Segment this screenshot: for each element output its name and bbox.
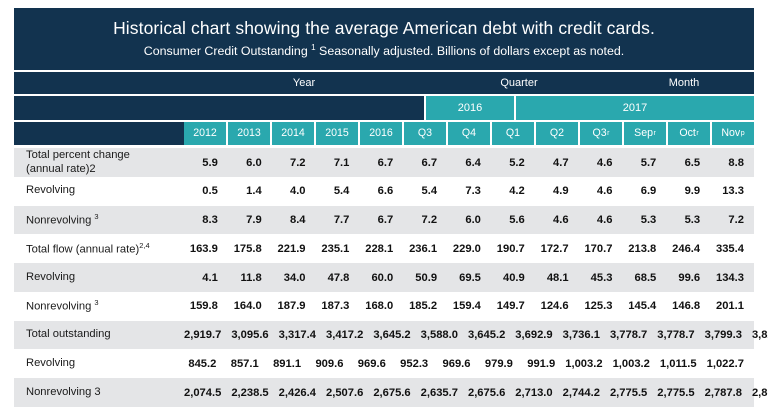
- table-cell: 45.3: [579, 272, 623, 284]
- table-cell: 4.2: [491, 185, 535, 197]
- header-column-2013[interactable]: 2013: [228, 122, 270, 145]
- header-column-q1[interactable]: Q1: [492, 122, 534, 145]
- header-column-label: Nov: [721, 128, 740, 139]
- subtitle-text-before: Consumer Credit Outstanding: [144, 44, 311, 58]
- table-cell: 1,003.2: [613, 358, 660, 370]
- table-row: Total percent change(annual rate)25.96.0…: [14, 148, 754, 177]
- table-cell: 6.9: [622, 185, 666, 197]
- table-cell: 159.4: [447, 300, 491, 312]
- table-cell: 2,804.5: [752, 387, 768, 399]
- table-cell: 221.9: [272, 243, 316, 255]
- header-column-q4[interactable]: Q4: [448, 122, 490, 145]
- table-cell: 2,919.7: [184, 329, 231, 341]
- table-cell: 845.2: [184, 358, 226, 370]
- table-cell: 979.9: [481, 358, 523, 370]
- table-cell: 891.1: [269, 358, 311, 370]
- table-cell: 7.2: [710, 214, 754, 226]
- table-cell: 5.3: [622, 214, 666, 226]
- table-cell: 172.7: [535, 243, 579, 255]
- table-cell: 187.3: [316, 300, 360, 312]
- table-cell: 168.0: [359, 300, 403, 312]
- table-cell: 6.7: [359, 214, 403, 226]
- table-cell: 5.2: [491, 157, 535, 169]
- table-cell: 4.6: [579, 214, 623, 226]
- table-cell: 5.4: [316, 185, 360, 197]
- table-cell: 2,507.6: [326, 387, 373, 399]
- row-label: Total outstanding: [14, 328, 184, 342]
- header-column-2014[interactable]: 2014: [272, 122, 314, 145]
- table-cell: 175.8: [228, 243, 272, 255]
- table-cell: 213.8: [622, 243, 666, 255]
- table-cell: 3,736.1: [563, 329, 610, 341]
- table-cell: 7.7: [316, 214, 360, 226]
- table-cell: 149.7: [491, 300, 535, 312]
- table-cell: 3,588.0: [421, 329, 468, 341]
- table-cell: 952.3: [396, 358, 438, 370]
- header-yearband-2016: 2016: [426, 96, 514, 120]
- table-cell: 159.8: [184, 300, 228, 312]
- table-cell: 4.9: [535, 185, 579, 197]
- header-column-2016[interactable]: 2016: [360, 122, 402, 145]
- table-cell: 2,775.5: [657, 387, 704, 399]
- table-cell: 3,692.9: [515, 329, 562, 341]
- table-cell: 6.0: [228, 157, 272, 169]
- row-label: Revolving: [14, 271, 184, 285]
- table-cell: 146.8: [666, 300, 710, 312]
- header-column-sep-r[interactable]: Sepr: [624, 122, 666, 145]
- header-column-2015[interactable]: 2015: [316, 122, 358, 145]
- credit-table-page: Historical chart showing the average Ame…: [0, 0, 768, 417]
- table-cell: 4.6: [535, 214, 579, 226]
- page-subtitle: Consumer Credit Outstanding 1 Seasonally…: [24, 43, 744, 59]
- table-cell: 163.9: [184, 243, 228, 255]
- table-cell: 8.8: [710, 157, 754, 169]
- table-cell: 909.6: [311, 358, 353, 370]
- header-column-marker: p: [741, 130, 745, 137]
- table-cell: 164.0: [228, 300, 272, 312]
- row-label: Total percent change(annual rate)2: [14, 149, 184, 176]
- table-row: Nonrevolving 32,074.52,238.52,426.42,507…: [14, 378, 754, 407]
- row-label: Revolving: [14, 184, 184, 198]
- header-column-label: Q3: [593, 128, 607, 139]
- header-group-year: Year: [184, 72, 424, 94]
- table-row: Revolving0.51.44.05.46.65.47.34.24.94.66…: [14, 177, 754, 206]
- table-cell: 2,744.2: [563, 387, 610, 399]
- header-row-year-bands: 2016 2017: [14, 96, 754, 120]
- table-cell: 13.3: [710, 185, 754, 197]
- table-cell: 99.6: [666, 272, 710, 284]
- table-cell: 4.0: [272, 185, 316, 197]
- header-column-marker: r: [696, 130, 698, 137]
- row-label: Nonrevolving 3: [14, 386, 184, 400]
- table-cell: 2,713.0: [515, 387, 562, 399]
- row-label: Nonrevolving 3: [14, 298, 184, 314]
- table-row: Revolving4.111.834.047.860.050.969.540.9…: [14, 263, 754, 292]
- table-cell: 6.6: [359, 185, 403, 197]
- row-label: Nonrevolving 3: [14, 212, 184, 228]
- table-cell: 5.7: [622, 157, 666, 169]
- header-column-label: Oct: [679, 128, 695, 139]
- header-column-label: Q4: [462, 128, 476, 139]
- header-column-label: 2013: [237, 128, 261, 139]
- table-cell: 3,317.4: [279, 329, 326, 341]
- table-cell: 2,635.7: [421, 387, 468, 399]
- table-cell: 235.1: [316, 243, 360, 255]
- table-cell: 6.5: [666, 157, 710, 169]
- table-cell: 8.3: [184, 214, 228, 226]
- table-cell: 4.1: [184, 272, 228, 284]
- table-row: Total outstanding2,919.73,095.63,317.43,…: [14, 321, 754, 350]
- header-column-label: Q2: [550, 128, 564, 139]
- table-cell: 6.0: [447, 214, 491, 226]
- table-cell: 7.2: [272, 157, 316, 169]
- table-cell: 145.4: [622, 300, 666, 312]
- header-row-columns: 20122013201420152016Q3Q4Q1Q2Q3rSeprOctrN…: [14, 122, 754, 145]
- table-cell: 40.9: [491, 272, 535, 284]
- table-cell: 201.1: [710, 300, 754, 312]
- table-cell: 3,778.7: [610, 329, 657, 341]
- header-corner-cell: [14, 72, 184, 94]
- table-cell: 229.0: [447, 243, 491, 255]
- table-cell: 2,238.5: [231, 387, 278, 399]
- header-column-cells: 20122013201420152016Q3Q4Q1Q2Q3rSeprOctrN…: [184, 122, 754, 145]
- table-cell: 969.6: [353, 358, 395, 370]
- table-cell: 228.1: [359, 243, 403, 255]
- table-cell: 246.4: [666, 243, 710, 255]
- table-cell: 124.6: [535, 300, 579, 312]
- table-cell: 991.9: [523, 358, 565, 370]
- table-cell: 3,778.7: [657, 329, 704, 341]
- table-cell: 1,011.5: [660, 358, 707, 370]
- header-column-q3-r[interactable]: Q3r: [580, 122, 622, 145]
- header-columns-spacer: [14, 122, 184, 145]
- table-cell: 2,426.4: [279, 387, 326, 399]
- header-yearband-2017: 2017: [516, 96, 754, 120]
- table-row: Total flow (annual rate)2,4163.9175.8221…: [14, 234, 754, 263]
- table-cell: 50.9: [403, 272, 447, 284]
- header-column-q3[interactable]: Q3: [404, 122, 446, 145]
- table-cell: 8.4: [272, 214, 316, 226]
- header-column-label: 2016: [369, 128, 393, 139]
- table-cell: 6.7: [359, 157, 403, 169]
- table-cell: 2,775.5: [610, 387, 657, 399]
- table-cell: 4.7: [535, 157, 579, 169]
- table-cell: 7.9: [228, 214, 272, 226]
- page-title: Historical chart showing the average Ame…: [24, 18, 744, 40]
- table-cell: 3,417.2: [326, 329, 373, 341]
- table-cell: 2,074.5: [184, 387, 231, 399]
- header-column-label: Q1: [506, 128, 520, 139]
- table-cell: 857.1: [226, 358, 268, 370]
- table-cell: 335.4: [710, 243, 754, 255]
- table-cell: 0.5: [184, 185, 228, 197]
- header-yearband-blank: [184, 96, 424, 120]
- table-cell: 190.7: [491, 243, 535, 255]
- table-cell: 5.3: [666, 214, 710, 226]
- table-cell: 185.2: [403, 300, 447, 312]
- table-cell: 236.1: [403, 243, 447, 255]
- header-group-month: Month: [614, 72, 754, 94]
- row-label: Revolving: [14, 357, 184, 371]
- header-group-quarter: Quarter: [424, 72, 614, 94]
- header-column-2012[interactable]: 2012: [184, 122, 226, 145]
- table-row: Nonrevolving 38.37.98.47.76.77.26.05.64.…: [14, 206, 754, 235]
- table-cell: 5.9: [184, 157, 228, 169]
- header-yearband-spacer: [14, 96, 184, 120]
- table-body: Total percent change(annual rate)25.96.0…: [14, 148, 754, 407]
- title-band: Historical chart showing the average Ame…: [14, 8, 754, 70]
- header-column-label: Sep: [634, 128, 653, 139]
- header-column-label: 2012: [193, 128, 217, 139]
- table-cell: 7.3: [447, 185, 491, 197]
- header-column-nov-p[interactable]: Novp: [712, 122, 754, 145]
- table-cell: 170.7: [579, 243, 623, 255]
- table-cell: 969.6: [438, 358, 480, 370]
- table-cell: 3,645.2: [373, 329, 420, 341]
- table-cell: 4.6: [579, 157, 623, 169]
- table-cell: 3,645.2: [468, 329, 515, 341]
- table-cell: 68.5: [622, 272, 666, 284]
- header-column-label: Q3: [418, 128, 432, 139]
- table-cell: 3,799.3: [705, 329, 752, 341]
- table-cell: 2,787.8: [705, 387, 752, 399]
- table-cell: 5.6: [491, 214, 535, 226]
- table-row: Nonrevolving 3159.8164.0187.9187.3168.01…: [14, 292, 754, 321]
- table-cell: 11.8: [228, 272, 272, 284]
- header-column-marker: r: [654, 130, 656, 137]
- table-cell: 3,827.2: [752, 329, 768, 341]
- table-cell: 7.1: [316, 157, 360, 169]
- header-column-label: 2014: [281, 128, 305, 139]
- table-cell: 1.4: [228, 185, 272, 197]
- table-cell: 134.3: [710, 272, 754, 284]
- table-cell: 5.4: [403, 185, 447, 197]
- table-cell: 6.7: [403, 157, 447, 169]
- header-column-oct-r[interactable]: Octr: [668, 122, 710, 145]
- table-header: Year Quarter Month 2016 2017 20122013201…: [14, 72, 754, 147]
- table-cell: 69.5: [447, 272, 491, 284]
- table-cell: 2,675.6: [373, 387, 420, 399]
- header-column-q2[interactable]: Q2: [536, 122, 578, 145]
- table-cell: 9.9: [666, 185, 710, 197]
- table-cell: 125.3: [579, 300, 623, 312]
- table-cell: 47.8: [316, 272, 360, 284]
- table-cell: 1,022.7: [707, 358, 754, 370]
- table-cell: 1,003.2: [565, 358, 612, 370]
- table-cell: 4.6: [579, 185, 623, 197]
- table-cell: 187.9: [272, 300, 316, 312]
- table-row: Revolving845.2857.1891.1909.6969.6952.39…: [14, 349, 754, 378]
- table-cell: 2,675.6: [468, 387, 515, 399]
- subtitle-text-after: Seasonally adjusted. Billions of dollars…: [316, 44, 625, 58]
- table-cell: 6.4: [447, 157, 491, 169]
- table-cell: 3,095.6: [231, 329, 278, 341]
- table-cell: 34.0: [272, 272, 316, 284]
- header-row-groups: Year Quarter Month: [14, 72, 754, 94]
- row-label: Total flow (annual rate)2,4: [14, 241, 184, 257]
- table-cell: 7.2: [403, 214, 447, 226]
- header-column-label: 2015: [325, 128, 349, 139]
- table-cell: 48.1: [535, 272, 579, 284]
- table-cell: 60.0: [359, 272, 403, 284]
- header-column-marker: r: [607, 130, 609, 137]
